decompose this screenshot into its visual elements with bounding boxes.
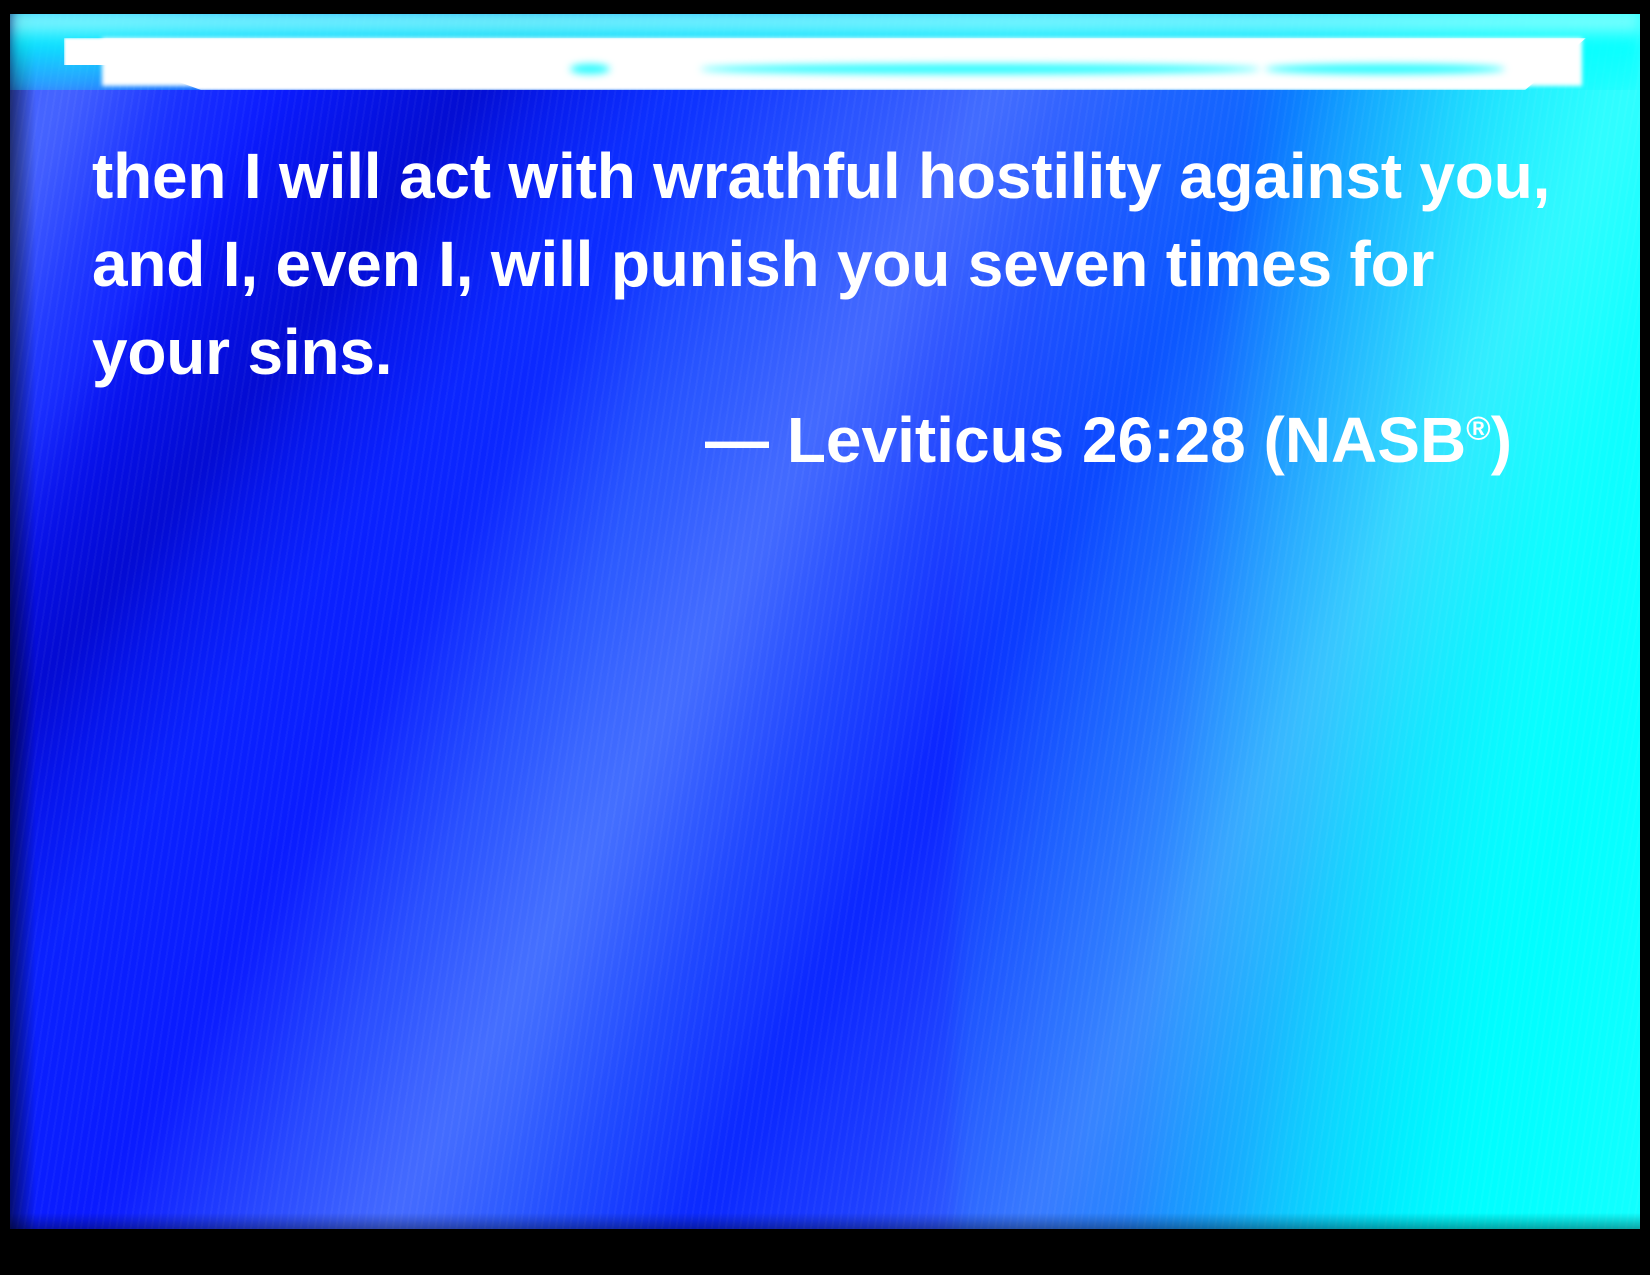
- verse-text: then I will act with wrathful hostility …: [92, 132, 1552, 396]
- verse-slide: then I will act with wrathful hostility …: [0, 0, 1650, 1275]
- header-band-white-inner: [102, 38, 1582, 86]
- header-band-wisp-right: [1265, 64, 1505, 74]
- attribution-prefix: — Leviticus 26:28 (NASB: [705, 404, 1466, 476]
- registered-trademark-icon: ®: [1466, 411, 1491, 448]
- header-band-wisp-left: [570, 64, 610, 74]
- verse-attribution: — Leviticus 26:28 (NASB®): [92, 396, 1512, 484]
- header-band: [10, 14, 1640, 90]
- header-band-wisp-center: [700, 64, 1260, 74]
- slide-canvas: then I will act with wrathful hostility …: [10, 14, 1640, 1229]
- attribution-suffix: ): [1491, 404, 1512, 476]
